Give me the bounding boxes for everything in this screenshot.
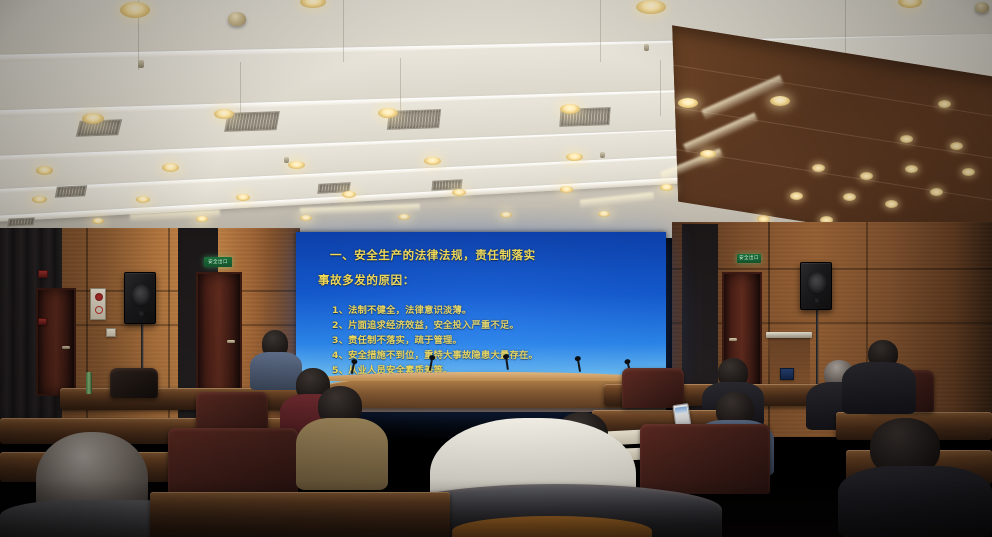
- speaker-left: [124, 272, 156, 324]
- speaker-cone: [807, 271, 827, 295]
- ceiling-seam: [660, 60, 661, 116]
- conference-room-photo: 安全出口 安全出口 一、安全生产的法律法规，责任制落实: [0, 0, 992, 537]
- downlight: [700, 150, 716, 158]
- fire-sprinkler-icon: [644, 44, 649, 51]
- ceiling-camera-icon: [228, 12, 246, 26]
- exit-sign-left: 安全出口: [204, 257, 232, 267]
- downlight: [300, 215, 312, 221]
- prohibition-icon: [95, 306, 103, 314]
- ceiling-seam: [600, 0, 601, 62]
- downlight: [236, 194, 250, 201]
- downlight: [398, 214, 410, 220]
- attendee-body: [296, 418, 388, 490]
- slide-bullet: 2、片面追求经济效益，安全投入严重不足。: [332, 317, 519, 331]
- downlight: [905, 165, 918, 173]
- attendee-body: [250, 352, 302, 390]
- downlight: [500, 212, 512, 218]
- chair[interactable]: [168, 428, 298, 494]
- downlight: [636, 0, 666, 14]
- downlight: [860, 172, 873, 180]
- wall-seam: [672, 322, 992, 324]
- fire-sprinkler-icon: [138, 60, 144, 68]
- ceiling-seam: [240, 62, 241, 114]
- downlight: [342, 191, 356, 198]
- exit-sign-left-label: 安全出口: [208, 260, 228, 265]
- downlight: [162, 163, 179, 172]
- door-handle[interactable]: [227, 340, 235, 343]
- downlight: [790, 192, 803, 200]
- fire-safety-plaque: [90, 288, 106, 320]
- speaker-tweeter: [813, 298, 821, 304]
- speaker-cone: [131, 283, 151, 307]
- downlight: [32, 196, 47, 203]
- speaker-right: [800, 262, 832, 310]
- downlight: [560, 104, 580, 114]
- fire-sprinkler-icon: [284, 157, 289, 163]
- downlight: [962, 168, 975, 176]
- ceiling-seam: [343, 0, 344, 62]
- downlight: [885, 200, 898, 208]
- slide-bullet: 3、责任制不落实，疏于管理。: [332, 332, 462, 346]
- ceiling-seam: [845, 0, 846, 58]
- chair[interactable]: [640, 424, 770, 494]
- exit-sign-right: 安全出口: [737, 254, 761, 263]
- lectern-emblem: [780, 368, 794, 380]
- attendee-body-foreground: [838, 466, 992, 537]
- downlight: [560, 186, 573, 193]
- downlight: [678, 98, 698, 108]
- downlight: [938, 100, 951, 108]
- downlight: [900, 135, 913, 143]
- slide-title: 一、安全生产的法律法规，责任制落实: [330, 247, 536, 263]
- speaker-tweeter: [137, 311, 146, 317]
- downlight: [120, 2, 150, 18]
- cove-light: [580, 192, 655, 209]
- chair[interactable]: [110, 368, 158, 398]
- wall-switch-panel[interactable]: [106, 328, 116, 337]
- downlight: [452, 189, 466, 196]
- downlight: [36, 166, 53, 175]
- fire-sprinkler-icon: [600, 152, 605, 158]
- water-bottle: [86, 372, 92, 394]
- door-handle[interactable]: [62, 346, 70, 349]
- downlight: [196, 216, 208, 222]
- lectern-top: [766, 332, 812, 338]
- emergency-light: [38, 270, 48, 278]
- chair[interactable]: [622, 368, 684, 408]
- downlight: [660, 184, 673, 191]
- door-handle[interactable]: [729, 338, 737, 341]
- downlight: [214, 109, 234, 119]
- emergency-light: [38, 318, 47, 325]
- attendee-body: [842, 362, 916, 414]
- wall-seam: [672, 268, 992, 270]
- phone-screen: [675, 406, 688, 414]
- downlight: [378, 108, 398, 118]
- slide-bullet: 1、法制不健全，法律意识淡薄。: [332, 302, 472, 316]
- downlight: [136, 196, 150, 203]
- desk-row-foreground: [150, 492, 450, 537]
- downlight: [930, 188, 943, 196]
- ceiling-seam: [400, 58, 401, 116]
- downlight: [950, 142, 963, 150]
- hvac-vent: [7, 217, 35, 226]
- ceiling: [0, 0, 992, 238]
- downlight: [92, 218, 104, 224]
- exit-sign-right-label: 安全出口: [739, 256, 759, 261]
- downlight: [812, 164, 825, 172]
- desk-row: [60, 388, 310, 410]
- downlight: [82, 113, 104, 124]
- hvac-vent: [55, 185, 88, 198]
- fire-icon: [95, 293, 103, 301]
- downlight: [566, 153, 583, 161]
- downlight: [770, 96, 790, 106]
- downlight: [288, 161, 305, 169]
- slide-subtitle: 事故多发的原因：: [318, 272, 415, 288]
- door-left-far[interactable]: [196, 272, 242, 404]
- downlight: [598, 211, 610, 217]
- downlight: [843, 193, 856, 201]
- downlight: [424, 157, 441, 165]
- ceiling-camera-icon: [975, 2, 989, 13]
- door-left[interactable]: [36, 288, 76, 396]
